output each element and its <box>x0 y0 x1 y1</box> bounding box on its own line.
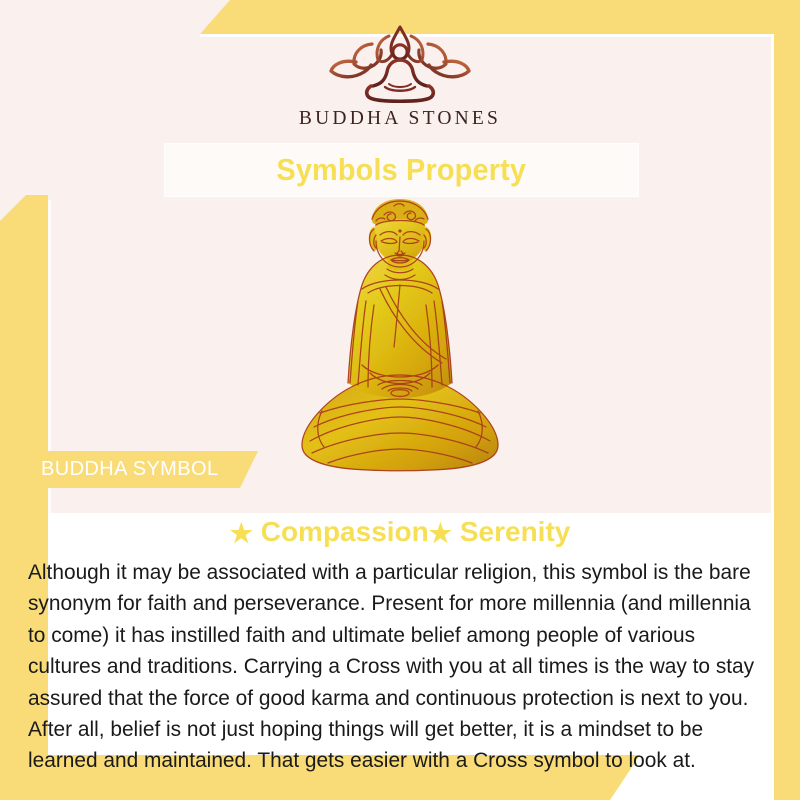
symbol-tag-label: BUDDHA SYMBOL <box>18 458 218 481</box>
frame-inset-line-right <box>771 34 774 800</box>
attribute-serenity: Serenity <box>460 516 571 547</box>
brand-name: BUDDHA STONES <box>299 108 501 130</box>
title-banner: Symbols Property <box>165 144 638 196</box>
poster-root: BUDDHA STONES Symbols Property <box>0 0 800 800</box>
golden-buddha-statue-image <box>292 197 508 489</box>
brand-block: BUDDHA STONES <box>0 24 800 130</box>
lotus-meditation-figure-icon <box>309 24 491 104</box>
page-title: Symbols Property <box>277 152 527 188</box>
star-icon-2: ★ <box>429 518 452 548</box>
attributes-heading: ★ Compassion★ Serenity <box>0 516 800 549</box>
attribute-compassion: Compassion <box>261 516 429 547</box>
description-paragraph: Although it may be associated with a par… <box>28 557 765 777</box>
status-badge-buddha-symbol: BUDDHA SYMBOL <box>18 451 258 488</box>
star-icon-1: ★ <box>230 518 253 548</box>
